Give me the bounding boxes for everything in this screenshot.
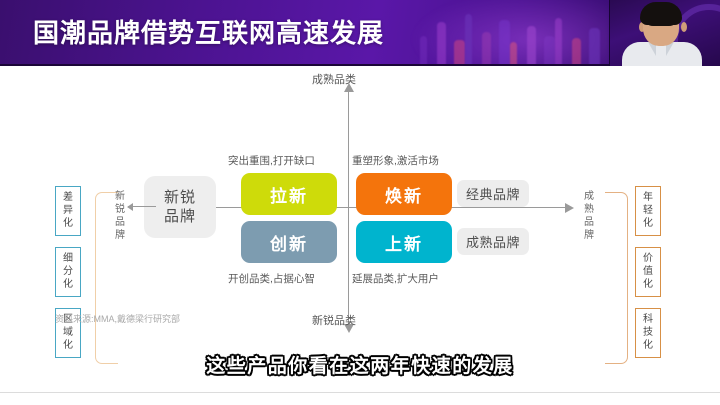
center-brand-box-line1: 新锐	[164, 188, 196, 207]
left-vertical-label-char-2: 品	[113, 216, 127, 229]
right-vertical-label-char-0: 成	[582, 190, 596, 203]
center-brand-box-line2: 品牌	[164, 207, 196, 226]
right-tag-1-char-0: 价	[636, 252, 660, 265]
right-tag-2-char-1: 技	[636, 326, 660, 339]
presenter-hair	[640, 2, 682, 25]
left-tag-0-char-1: 异	[56, 204, 80, 217]
bottom-strip	[0, 392, 720, 405]
right-tag-0-char-0: 年	[636, 191, 660, 204]
right-vertical-label-char-3: 牌	[582, 229, 596, 242]
pill-mature-brand: 成熟品牌	[457, 228, 529, 255]
right-tag-0-char-2: 化	[636, 217, 660, 230]
quadrant-caption-huan-xin: 重塑形象,激活市场	[352, 153, 439, 168]
right-vertical-label: 成 熟 品 牌	[582, 190, 596, 242]
right-vertical-label-char-2: 品	[582, 216, 596, 229]
left-vertical-label-char-3: 牌	[113, 229, 127, 242]
axis-label-bottom: 新锐品类	[312, 312, 356, 328]
axis-label-top: 成熟品类	[312, 71, 356, 87]
quadrant-card-huan-xin[interactable]: 焕新	[356, 173, 452, 215]
left-vertical-label-char-0: 新	[113, 190, 127, 203]
left-tag-1-char-0: 细	[56, 252, 80, 265]
quadrant-caption-la-xin: 突出重围,打开缺口	[228, 153, 315, 168]
right-tag-0-char-1: 轻	[636, 204, 660, 217]
quadrant-card-shang-xin[interactable]: 上新	[356, 221, 452, 263]
quadrant-caption-chuang-xin: 开创品类,占据心智	[228, 271, 315, 286]
right-tag-column: 年 轻 化 价 值 化 科 技 化	[635, 186, 661, 369]
left-tag-0-char-0: 差	[56, 191, 80, 204]
crowd-silhouette-decor	[420, 8, 600, 66]
left-tag-0: 差 异 化	[55, 186, 81, 236]
left-tag-1-char-2: 化	[56, 278, 80, 291]
quadrant-card-la-xin[interactable]: 拉新	[241, 173, 337, 215]
presenter-ear-right	[681, 22, 687, 32]
left-tag-1-char-1: 分	[56, 265, 80, 278]
left-vertical-label: 新 锐 品 牌	[113, 190, 127, 242]
left-tag-1: 细 分 化	[55, 247, 81, 297]
left-tag-column: 差 异 化 细 分 化 区 域 化	[55, 186, 81, 369]
left-arrow-icon	[128, 206, 156, 207]
left-vertical-label-char-1: 锐	[113, 203, 127, 216]
pill-classic-brand: 经典品牌	[457, 180, 529, 207]
right-brace-bracket	[605, 192, 628, 364]
source-note: 资料来源:MMA,戴德梁行研究部	[55, 312, 180, 325]
video-subtitle: 这些产品你看在这两年快速的发展	[0, 351, 720, 378]
right-tag-2-char-0: 科	[636, 313, 660, 326]
slide-screenshot: 国潮品牌借势互联网高速发展 差 异 化 细 分 化 区	[0, 0, 720, 405]
left-tag-0-char-2: 化	[56, 217, 80, 230]
quadrant-card-chuang-xin[interactable]: 创新	[241, 221, 337, 263]
right-tag-1-char-2: 化	[636, 278, 660, 291]
right-tag-1: 价 值 化	[635, 247, 661, 297]
presenter-video-inset[interactable]	[609, 0, 720, 66]
quadrant-caption-shang-xin: 延展品类,扩大用户	[352, 271, 439, 286]
page-title: 国潮品牌借势互联网高速发展	[33, 14, 384, 52]
left-tag-2-char-1: 域	[56, 326, 80, 339]
right-vertical-label-char-1: 熟	[582, 203, 596, 216]
right-tag-1-char-1: 值	[636, 265, 660, 278]
right-tag-0: 年 轻 化	[635, 186, 661, 236]
